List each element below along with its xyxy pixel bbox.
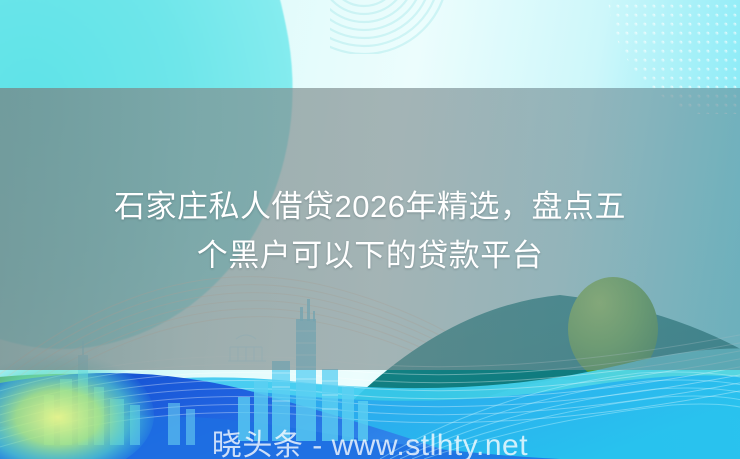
concentric-arcs-icon [330,0,480,54]
page-title: 石家庄私人借贷2026年精选，盘点五 个黑户可以下的贷款平台 [0,182,740,280]
poster-canvas: 石家庄私人借贷2026年精选，盘点五 个黑户可以下的贷款平台 晓头条 - www… [0,0,740,459]
watermark-text: 晓头条 - www.stlhty.net [0,429,740,459]
